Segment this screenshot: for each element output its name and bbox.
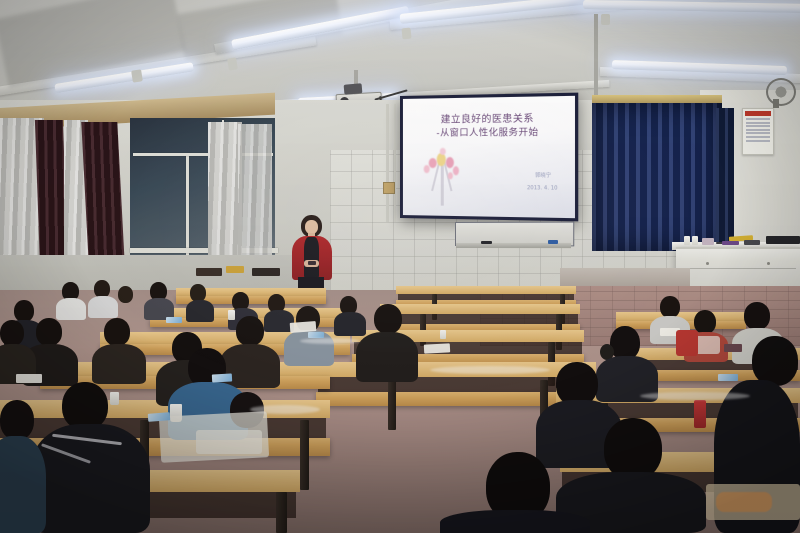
light-fixture-1 [131, 69, 143, 82]
blue-curtain [592, 103, 722, 251]
cabinet-panel-line [680, 268, 796, 269]
student-head [660, 296, 680, 318]
student-head-front [0, 400, 34, 440]
student-body [334, 312, 366, 336]
handout-paper [424, 343, 450, 353]
student-body-front [440, 510, 590, 533]
bench-row-a-top [396, 286, 576, 294]
desk-glint [430, 366, 550, 374]
dark-item-on-cabinet [744, 240, 760, 245]
blue-packet [148, 412, 171, 422]
desk-glint [300, 338, 360, 344]
projector-bracket [344, 83, 363, 95]
wall-socket [383, 182, 395, 194]
student-head [104, 318, 130, 346]
wall-conduit-2 [394, 104, 396, 222]
notice-line [746, 118, 770, 120]
light-fixture-3 [401, 28, 411, 40]
student-body [56, 298, 86, 320]
student-head-front [62, 382, 108, 430]
paper-cup [440, 330, 446, 339]
purple-item-on-cabinet [722, 241, 739, 245]
student-body [356, 332, 418, 382]
student-head [36, 318, 62, 346]
ceiling-support-pole [594, 14, 598, 106]
notebook [724, 344, 742, 352]
light-fixture-2 [227, 57, 238, 70]
presenter-clicker-icon [308, 261, 316, 265]
student-head [610, 326, 640, 360]
projection-screen: 建立良好的医患关系 -从窗口人性化服务开始 郭晓宁 2013. 4. 10 [400, 93, 578, 222]
wall-notice-poster [742, 108, 774, 155]
flower-petal [440, 148, 446, 155]
plastic-bag [196, 430, 262, 454]
blue-packet [212, 373, 232, 382]
classroom-photo: 建立良好的医患关系 -从窗口人性化服务开始 郭晓宁 2013. 4. 10 [0, 0, 800, 533]
blue-packet [718, 374, 738, 381]
snack-in-bag [716, 492, 772, 512]
dark-item-on-desk [252, 268, 280, 276]
presenter-face [305, 220, 318, 234]
notice-line [746, 129, 770, 131]
paper-cup [228, 310, 235, 320]
wall-conduit-1 [386, 104, 389, 222]
cabinet-knob [706, 262, 709, 265]
slide-flower-graphic [421, 145, 467, 208]
red-pencil-case [694, 400, 706, 428]
slide-date: 2013. 4. 10 [527, 185, 558, 192]
blue-eraser-icon [548, 240, 558, 244]
student-head [374, 304, 402, 334]
flower-petal [429, 158, 437, 168]
handbag [676, 330, 698, 356]
curtain-grey-far [238, 124, 272, 274]
handout-paper [290, 321, 317, 333]
wall-fan-mount [773, 99, 779, 108]
blue-curtain-edge [716, 108, 734, 254]
student-head-front [752, 336, 798, 386]
cup-on-cabinet [684, 236, 690, 245]
dark-item-on-desk [196, 268, 222, 276]
flower-petal [448, 172, 453, 179]
notice-line [746, 132, 770, 134]
student-head [744, 302, 770, 330]
light-fixture-4 [601, 14, 610, 25]
slide-title-line2: -从窗口人性化服务开始 [403, 124, 575, 139]
handout-paper [16, 374, 42, 383]
desk-glint [250, 405, 320, 414]
slide-surface: 建立良好的医患关系 -从窗口人性化服务开始 郭晓宁 2013. 4. 10 [403, 96, 575, 218]
bench-leg [388, 380, 396, 430]
student-head-front [0, 320, 24, 346]
slide-author: 郭晓宁 [535, 172, 551, 179]
student-body-front [0, 436, 46, 533]
wall-fan-icon [766, 78, 796, 106]
presenter [288, 215, 334, 290]
notice-line [746, 136, 770, 138]
flower-petal [424, 165, 430, 173]
student-head [236, 316, 264, 346]
box-on-cabinet [702, 238, 714, 245]
student-head [14, 300, 34, 322]
desk-glint [640, 392, 750, 400]
bench-leg [300, 420, 309, 490]
notice-line [746, 125, 770, 127]
student-head-front [604, 418, 662, 480]
presenter-inner-top [304, 237, 319, 277]
yellow-box-on-desk [226, 266, 244, 273]
student-body [92, 344, 146, 384]
notice-header [745, 111, 771, 116]
flower-petal [453, 166, 459, 175]
blue-packet [166, 317, 182, 323]
student-head [118, 286, 133, 303]
slide-title-line1: 建立良好的医患关系 [403, 110, 575, 126]
flower-stem [441, 165, 444, 206]
notice-line [746, 122, 770, 124]
cabinet-knob [767, 262, 770, 265]
laptop-on-cabinet [766, 236, 800, 244]
black-marker-icon [481, 241, 492, 244]
student-body [88, 296, 118, 318]
notice-line [746, 140, 770, 142]
flower-petal [446, 157, 454, 168]
bench-row-b-top [380, 304, 580, 314]
student-body [186, 300, 214, 322]
bench-leg [276, 492, 287, 533]
cup-on-cabinet [692, 236, 698, 245]
paper-cup [110, 392, 119, 405]
